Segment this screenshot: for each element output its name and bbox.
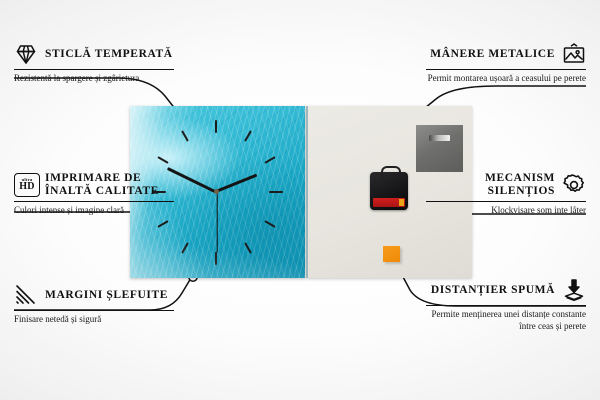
feature-title: MARGINI ȘLEFUITE: [45, 289, 168, 302]
clock-hub: [214, 189, 219, 194]
feature-subtitle: Klockvisare som inte låter: [426, 205, 586, 217]
minute-hand: [167, 167, 217, 193]
product-image: [130, 106, 470, 278]
hour-hand: [215, 174, 257, 194]
hour-tick-6: [215, 252, 217, 265]
feature-rule: [426, 69, 586, 70]
feature-title: IMPRIMARE DE ÎNALTĂ CALITATE: [45, 172, 174, 198]
feature-heading: MÂNERE METALICE: [426, 42, 586, 66]
hour-tick-3: [269, 191, 283, 193]
stacked-arrow-down-icon: [562, 278, 586, 302]
feature-high-quality-print: ultra HD IMPRIMARE DE ÎNALTĂ CALITATE Cu…: [14, 172, 174, 217]
hour-tick-2: [264, 156, 275, 164]
feature-heading: STICLĂ TEMPERATĂ: [14, 42, 174, 66]
hour-tick-4: [264, 220, 275, 228]
feature-title: MÂNERE METALICE: [430, 48, 555, 61]
hour-tick-7: [181, 242, 189, 253]
battery-part: [373, 198, 405, 207]
feature-metal-handles: MÂNERE METALICE Permit montarea ușoară a…: [426, 42, 586, 85]
feature-subtitle: Permit montarea ușoară a ceasului pe per…: [426, 73, 586, 85]
feature-heading: ultra HD IMPRIMARE DE ÎNALTĂ CALITATE: [14, 172, 174, 198]
feature-rule: [14, 310, 174, 311]
feature-heading: MECANISM SILENȚIOS: [426, 172, 586, 198]
feature-title: DISTANȚIER SPUMĂ: [431, 284, 555, 297]
hour-tick-11: [181, 130, 189, 141]
metal-hanger-part: [416, 125, 463, 172]
second-hand: [216, 193, 217, 253]
quartz-mechanism-part: [370, 172, 408, 210]
feature-rule: [14, 69, 174, 70]
ultra-hd-icon: ultra HD: [14, 173, 38, 197]
hour-tick-12: [215, 120, 217, 133]
feature-rule: [426, 201, 586, 202]
diamond-icon: [14, 42, 38, 66]
mechanism-loop: [381, 166, 401, 178]
feature-subtitle: Culori intense și imagine clară: [14, 205, 174, 217]
hour-tick-5: [244, 242, 252, 253]
feature-subtitle: Permite menținerea unei distanțe constan…: [426, 309, 586, 332]
feature-heading: MARGINI ȘLEFUITE: [14, 283, 174, 307]
foam-spacer-part: [383, 246, 400, 262]
hour-tick-8: [157, 220, 168, 228]
feature-subtitle: Rezistentă la spargere și zgârietura: [14, 73, 174, 85]
bevel-lines-icon: [14, 283, 38, 307]
feature-title: MECANISM SILENȚIOS: [426, 172, 555, 198]
infographic-canvas: STICLĂ TEMPERATĂ Rezistentă la spargere …: [0, 0, 600, 400]
hanger-slot: [429, 135, 450, 141]
hour-tick-10: [157, 156, 168, 164]
hour-tick-1: [244, 130, 252, 141]
picture-hanger-icon: [562, 42, 586, 66]
feature-foam-spacer: DISTANȚIER SPUMĂ Permite menținerea unei…: [426, 278, 586, 332]
feature-polished-edges: MARGINI ȘLEFUITE Finisare netedă și sigu…: [14, 283, 174, 326]
feature-rule: [426, 305, 586, 306]
feature-title: STICLĂ TEMPERATĂ: [45, 48, 173, 61]
feature-silent-mechanism: MECANISM SILENȚIOS Klockvisare som inte …: [426, 172, 586, 217]
gear-icon: [562, 173, 586, 197]
feature-subtitle: Finisare netedă și sigură: [14, 314, 174, 326]
feature-tempered-glass: STICLĂ TEMPERATĂ Rezistentă la spargere …: [14, 42, 174, 85]
feature-rule: [14, 201, 174, 202]
feature-heading: DISTANȚIER SPUMĂ: [426, 278, 586, 302]
